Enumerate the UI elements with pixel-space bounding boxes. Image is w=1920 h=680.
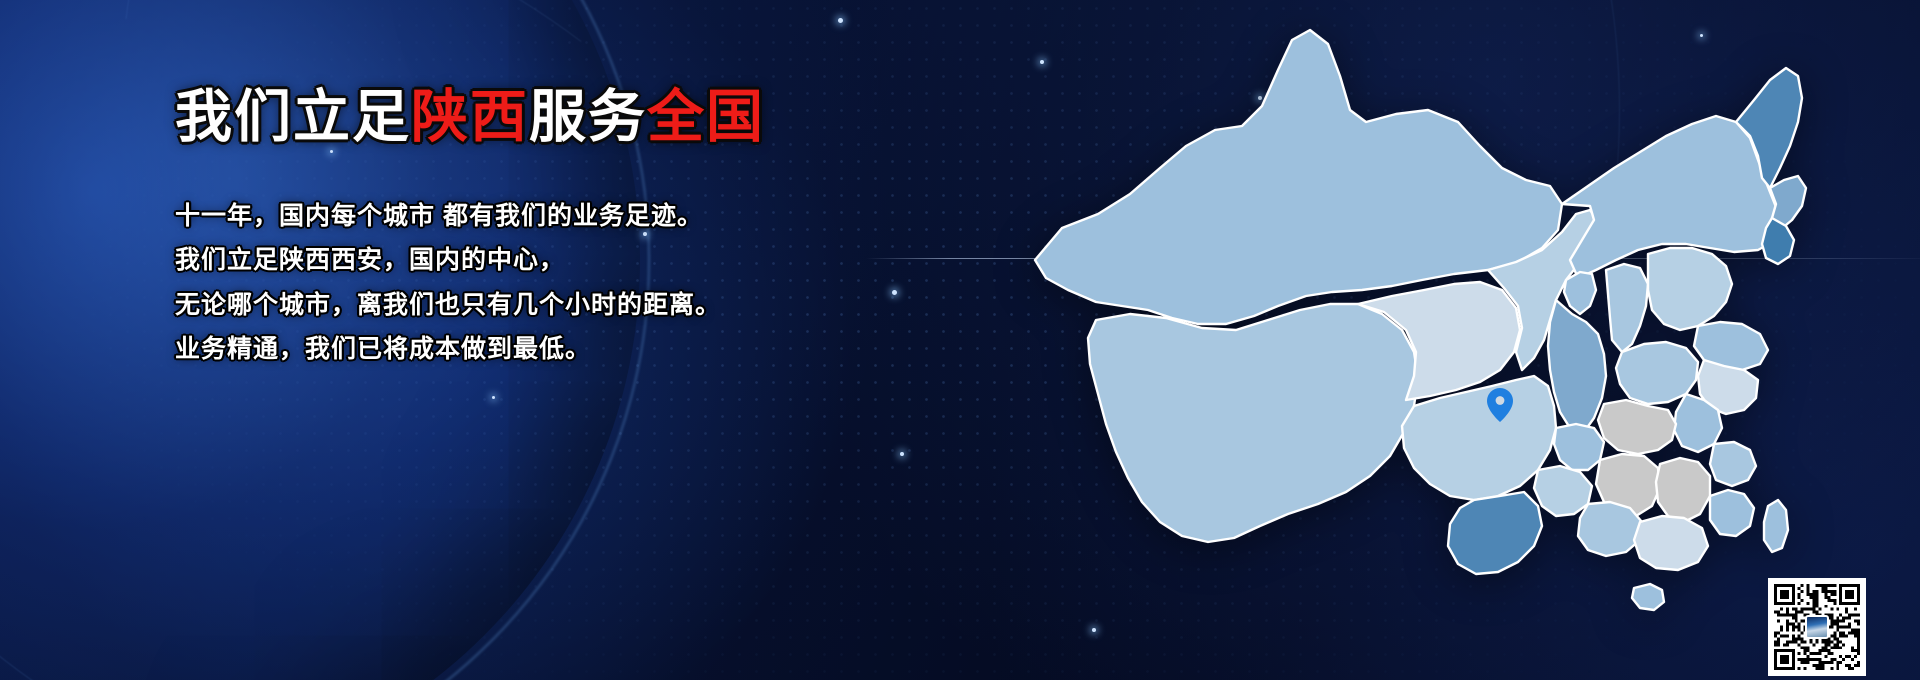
map-region-zhejiang xyxy=(1710,442,1756,486)
map-region-guangxi xyxy=(1578,502,1642,556)
headline-segment-2: 陕西 xyxy=(411,85,529,149)
headline-segment-3: 服务 xyxy=(529,85,647,149)
map-region-fujian xyxy=(1710,490,1754,536)
map-region-hainan xyxy=(1632,584,1664,610)
map-region-xinjiang xyxy=(1035,30,1562,324)
map-region-hubei xyxy=(1598,400,1676,454)
china-map xyxy=(1010,18,1810,658)
qr-logo-icon xyxy=(1805,615,1829,639)
page-title: 我们立足陕西服务全国 xyxy=(175,88,935,148)
map-region-shaanxi xyxy=(1548,300,1606,432)
map-region-yunnan xyxy=(1448,492,1542,574)
map-region-tibet xyxy=(1088,304,1418,542)
map-region-chongqing xyxy=(1554,424,1604,470)
map-region-guangdong xyxy=(1634,516,1708,570)
map-region-guizhou xyxy=(1534,466,1592,516)
subtitle-block: 十一年，国内每个城市 都有我们的业务足迹。 我们立足陕西西安，国内的中心， 无论… xyxy=(175,194,935,372)
map-region-shanxi xyxy=(1606,264,1648,352)
headline-segment-1: 我们立足 xyxy=(175,85,411,149)
star-icon xyxy=(900,452,904,456)
subtitle-line: 十一年，国内每个城市 都有我们的业务足迹。 xyxy=(175,194,935,239)
star-icon xyxy=(838,18,843,23)
map-region-ningxia xyxy=(1564,272,1596,314)
map-region-liaoning xyxy=(1762,218,1794,264)
map-region-jiangxi xyxy=(1656,458,1710,522)
map-region-hebei xyxy=(1648,248,1732,330)
headline-segment-4: 全国 xyxy=(647,85,765,149)
subtitle-line: 我们立足陕西西安，国内的中心， xyxy=(175,238,935,283)
star-icon xyxy=(492,396,495,399)
map-region-taiwan xyxy=(1764,500,1788,552)
copy-block: 我们立足陕西服务全国 十一年，国内每个城市 都有我们的业务足迹。 我们立足陕西西… xyxy=(175,88,935,372)
subtitle-line: 业务精通，我们已将成本做到最低。 xyxy=(175,327,935,372)
qr-code[interactable] xyxy=(1768,578,1866,676)
subtitle-line: 无论哪个城市，离我们也只有几个小时的距离。 xyxy=(175,283,935,328)
location-pin-icon xyxy=(1487,388,1513,422)
promo-banner: 我们立足陕西服务全国 十一年，国内每个城市 都有我们的业务足迹。 我们立足陕西西… xyxy=(0,0,1920,680)
